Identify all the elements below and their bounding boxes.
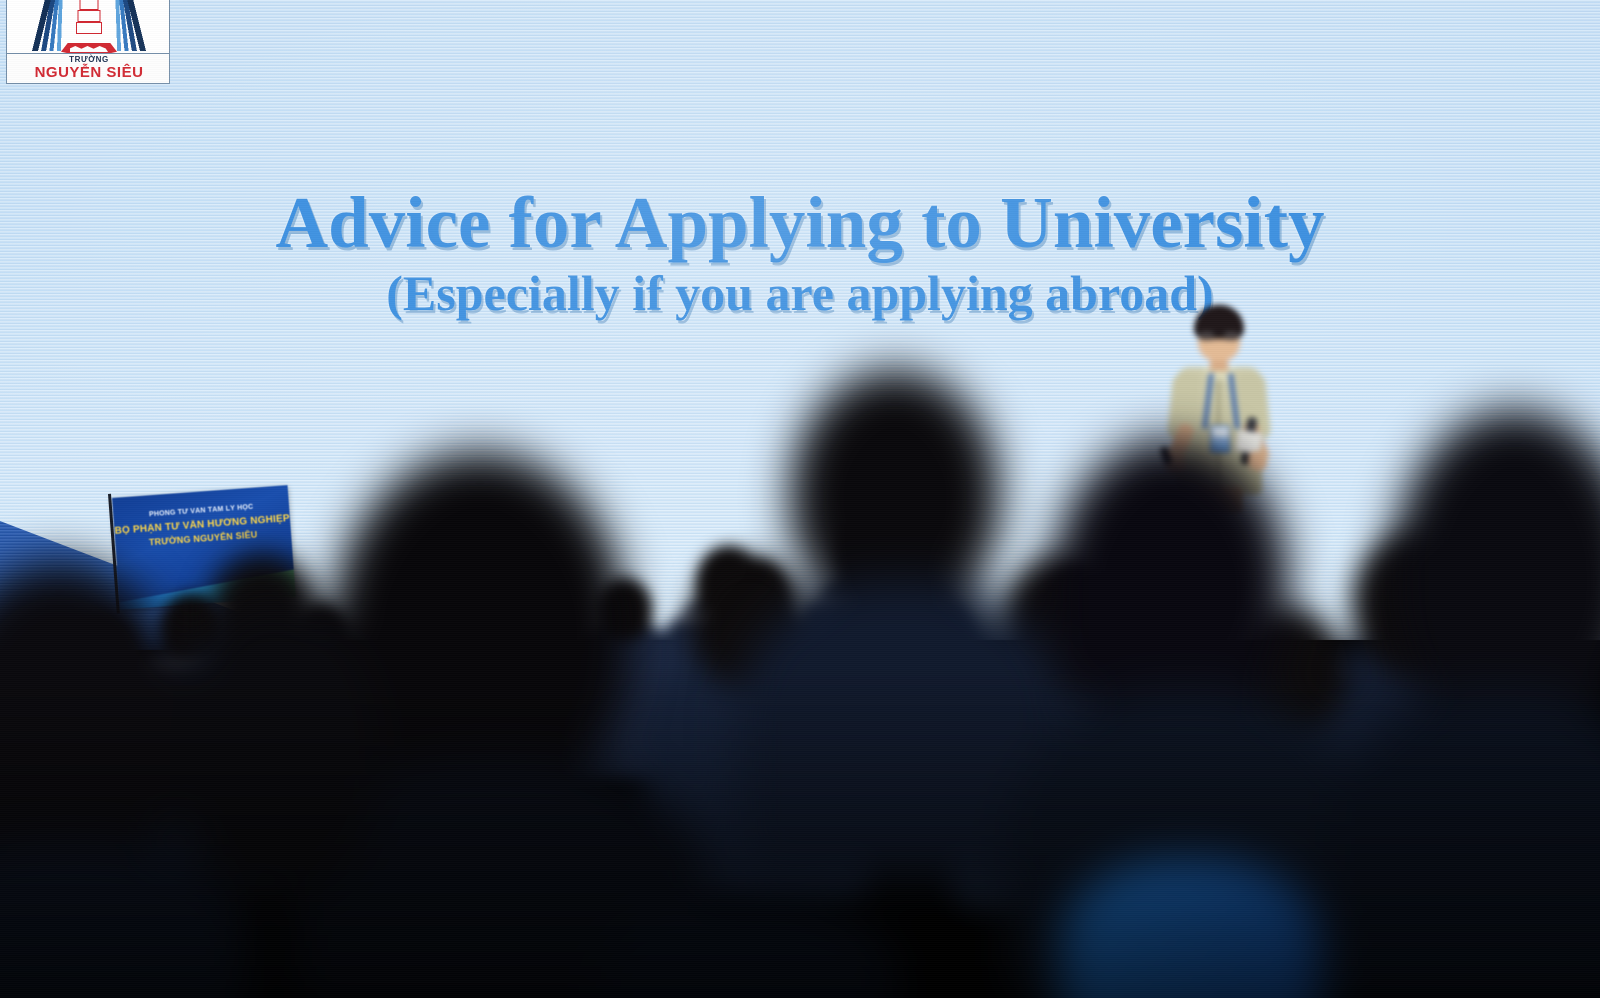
presentation-photo: TRƯỜNG NGUYỄN SIÊU Advice for Applying t… <box>0 0 1600 998</box>
student-audience: NGUYEN SIEU SCHOOL HA NOI <box>0 0 1600 998</box>
